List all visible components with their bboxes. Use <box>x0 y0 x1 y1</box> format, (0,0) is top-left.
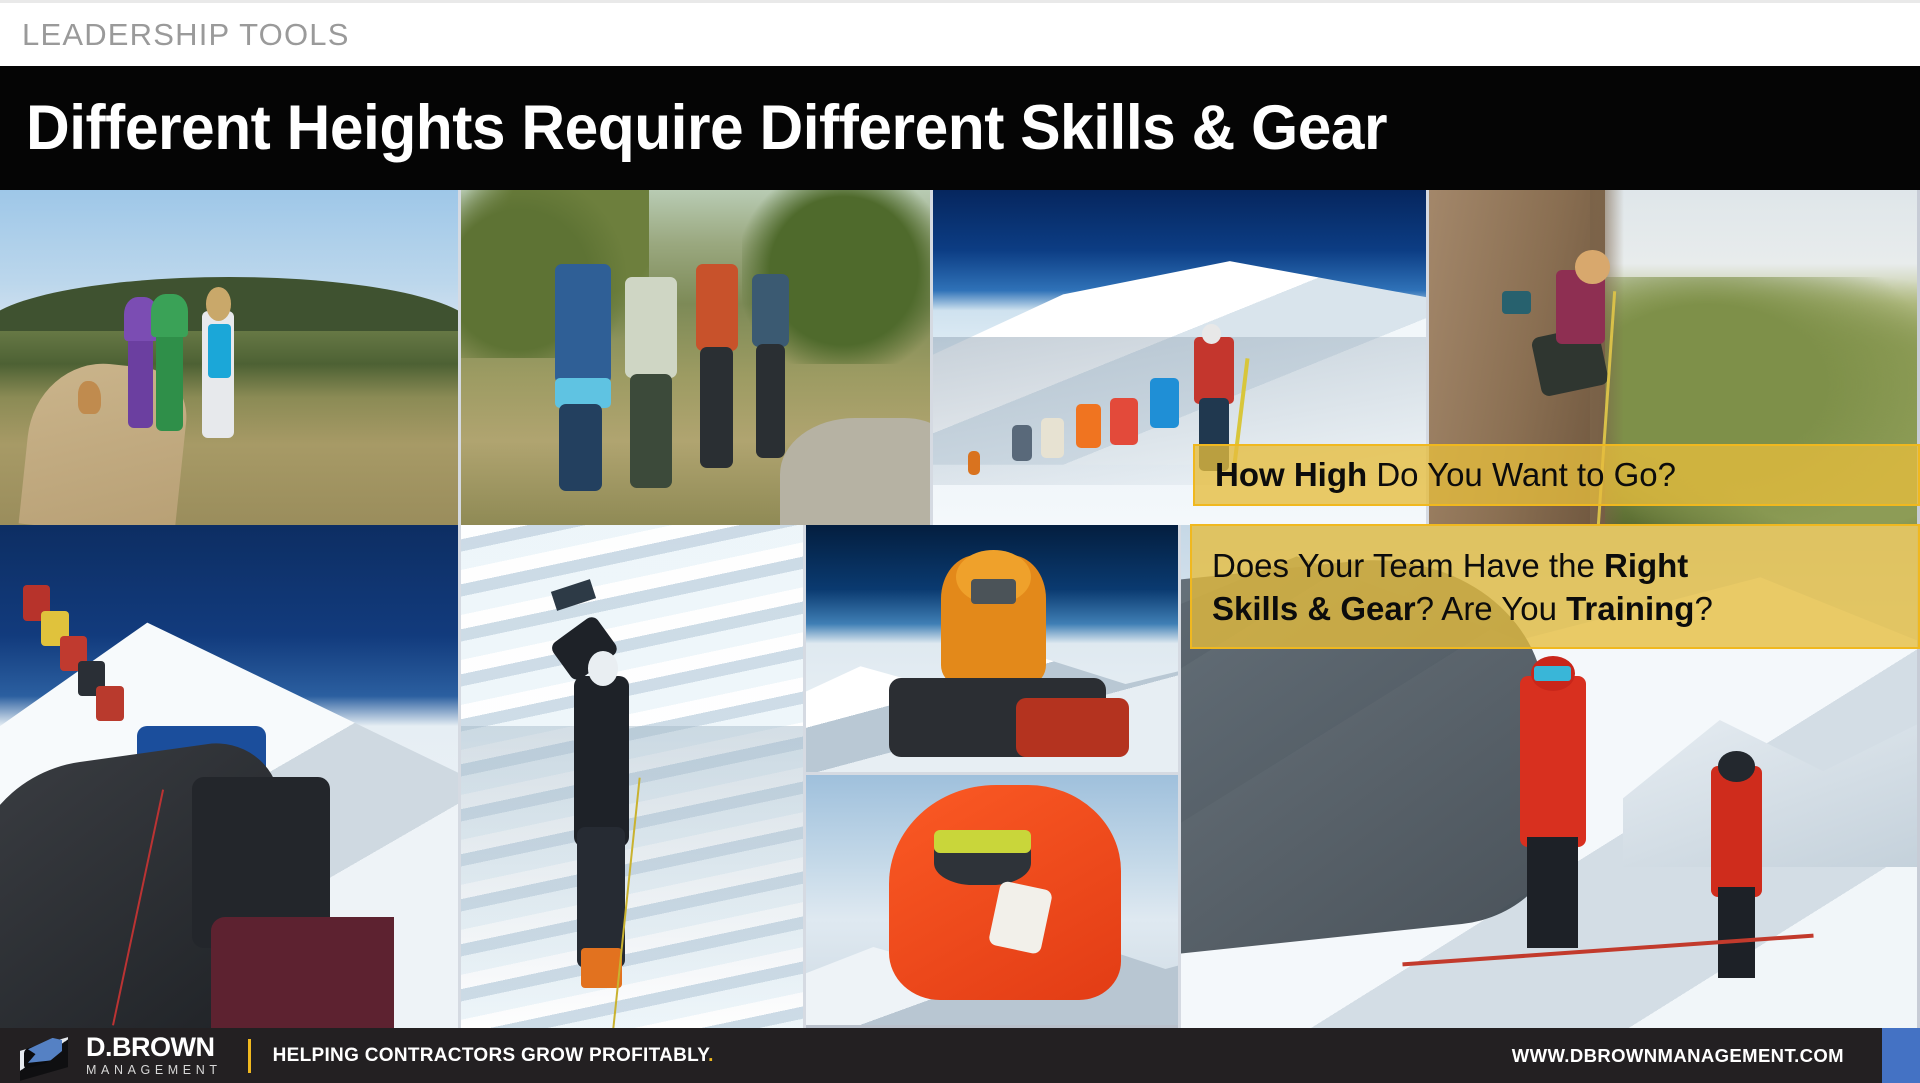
photo-ice-climber-axe <box>458 525 803 1028</box>
footer-tagline: HELPING CONTRACTORS GROW PROFITABLY. <box>273 1045 714 1067</box>
footer-bar: D.BROWN MANAGEMENT HELPING CONTRACTORS G… <box>0 1028 1920 1083</box>
callout-right-skills-line-2: Skills & Gear? Are You Training? <box>1212 588 1898 631</box>
callout-right-skills-text: Does Your Team Have the Right Skills & G… <box>1192 543 1918 631</box>
slide-root: LEADERSHIP TOOLS Different Heights Requi… <box>0 0 1920 1083</box>
dbrown-logo-icon <box>18 1035 74 1077</box>
photo-red-hood-oxygen <box>806 772 1178 1025</box>
callout-how-high: How High Do You Want to Go? <box>1193 444 1920 506</box>
photo-day-hikers-trail <box>0 190 458 525</box>
logo-primary-text: D.BROWN <box>86 1034 222 1061</box>
footer-accent-chip <box>1882 1028 1920 1083</box>
callout-right-skills: Does Your Team Have the Right Skills & G… <box>1190 524 1920 649</box>
logo-secondary-text: MANAGEMENT <box>86 1064 222 1077</box>
callout-how-high-line-1: How High Do You Want to Go? <box>1215 456 1676 493</box>
callout-right-skills-line-1: Does Your Team Have the Right <box>1212 545 1898 588</box>
logo-wordmark: D.BROWN MANAGEMENT <box>86 1034 222 1077</box>
kicker-bar: LEADERSHIP TOOLS <box>0 0 1920 66</box>
kicker-label: LEADERSHIP TOOLS <box>22 19 350 50</box>
title-band: Different Heights Require Different Skil… <box>0 66 1920 190</box>
page-title: Different Heights Require Different Skil… <box>26 97 1387 160</box>
footer-website-area: WWW.DBROWNMANAGEMENT.COM <box>1512 1028 1920 1083</box>
footer-divider <box>248 1039 251 1073</box>
callout-how-high-text: How High Do You Want to Go? <box>1195 454 1918 497</box>
photo-summit-queue-ridge <box>0 525 458 1028</box>
footer-tagline-dot: . <box>708 1045 714 1066</box>
footer-website-link[interactable]: WWW.DBROWNMANAGEMENT.COM <box>1512 1045 1844 1067</box>
photo-summit-orange-suit <box>806 525 1178 772</box>
photo-backpackers-switchback <box>458 190 930 525</box>
footer-tagline-text: HELPING CONTRACTORS GROW PROFITABLY <box>273 1045 709 1066</box>
photo-stack-summit <box>803 525 1178 1028</box>
